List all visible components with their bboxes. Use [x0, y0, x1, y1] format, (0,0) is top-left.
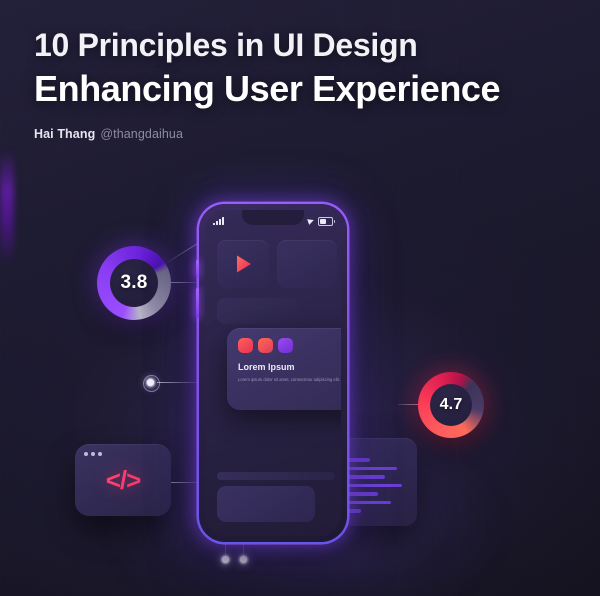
phone-bottom-divider [217, 472, 335, 480]
illustration-stage: 3.8 4.7 </> [0, 186, 600, 596]
phone-bottom-panel [217, 486, 315, 522]
status-right-group [308, 217, 333, 226]
code-card[interactable]: </> [75, 444, 171, 516]
signal-bars-icon [213, 217, 224, 226]
phone-mockup[interactable]: Today Lorem Ipsum Lorem ipsum dolor sit … [199, 204, 347, 542]
content-card-title: Lorem Ipsum [238, 362, 295, 372]
phone-status-bar [213, 215, 333, 227]
page-title-line1: 10 Principles in UI Design [34, 28, 574, 63]
connector-node-bottom-b [240, 556, 247, 563]
phone-side-button-top[interactable] [196, 260, 199, 278]
location-arrow-icon [307, 217, 315, 225]
code-brackets-icon: </> [75, 444, 171, 516]
connector-line-left [157, 382, 203, 383]
content-card-chips [238, 338, 293, 353]
poster-canvas: 10 Principles in UI Design Enhancing Use… [0, 0, 600, 596]
author-name: Hai Thang [34, 127, 95, 141]
rating-donut-right-value: 4.7 [440, 396, 463, 414]
connector-line-rating-left [168, 282, 202, 283]
media-tiles [217, 240, 337, 288]
play-tile[interactable] [217, 240, 269, 288]
phone-side-button-bottom[interactable] [196, 288, 199, 318]
chip-red [238, 338, 253, 353]
author-handle: @thangdaihua [100, 127, 183, 141]
page-title-line2: Enhancing User Experience [34, 69, 574, 109]
play-icon [232, 253, 254, 275]
connector-node-left [147, 379, 154, 386]
connector-node-bottom-a [222, 556, 229, 563]
content-card-body: Lorem ipsum dolor sit amet, consectetur … [238, 376, 341, 383]
rating-donut-left: 3.8 [97, 246, 171, 320]
phone-list-row [217, 298, 299, 324]
connector-line-codecard [170, 482, 202, 483]
chip-orange [258, 338, 273, 353]
battery-icon [318, 217, 333, 226]
media-tile-secondary[interactable] [277, 240, 337, 288]
phone-screen: Today Lorem Ipsum Lorem ipsum dolor sit … [205, 210, 341, 536]
byline: Hai Thang@thangdaihua [34, 127, 574, 141]
poster-header: 10 Principles in UI Design Enhancing Use… [34, 28, 574, 141]
rating-donut-right: 4.7 [418, 372, 484, 438]
rating-donut-left-value: 3.8 [120, 272, 147, 294]
content-card[interactable]: Today Lorem Ipsum Lorem ipsum dolor sit … [227, 328, 341, 410]
chip-purple [278, 338, 293, 353]
